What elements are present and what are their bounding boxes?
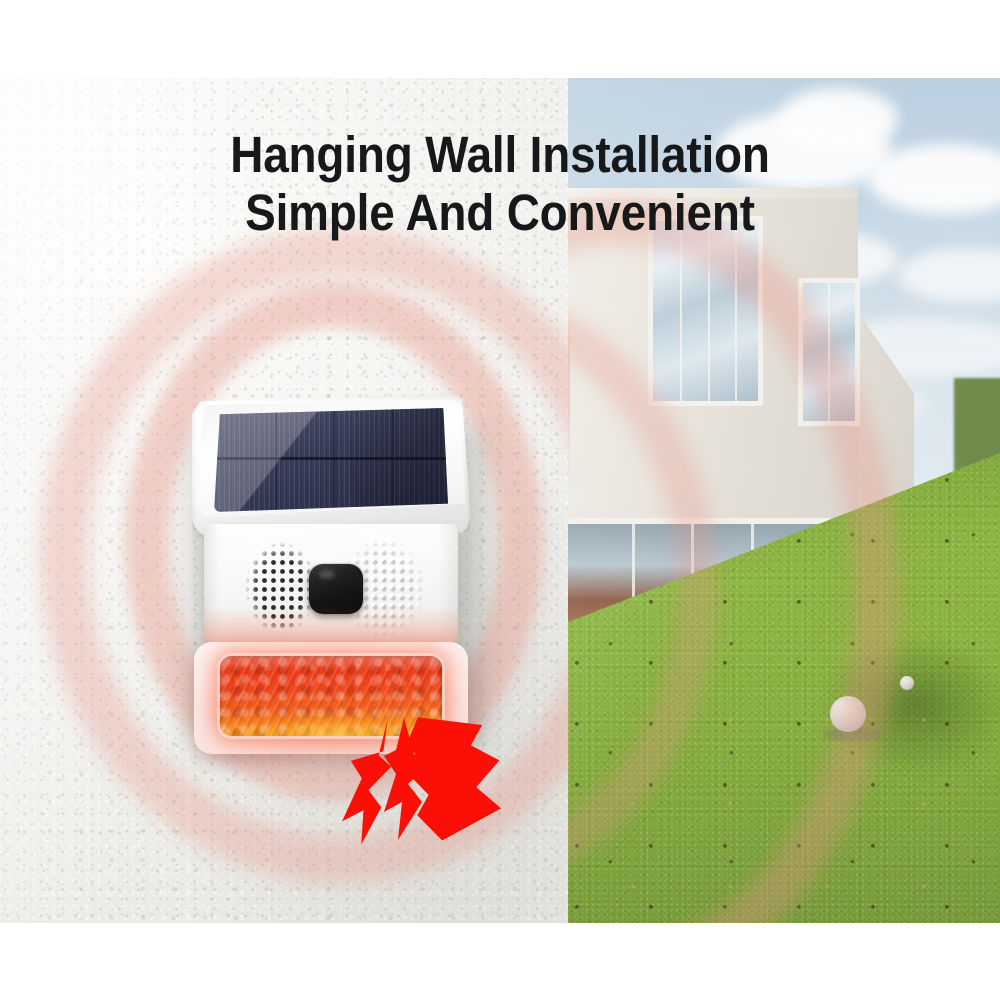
garden-sphere-ornament	[900, 676, 914, 690]
house-exterior-photo	[568, 78, 1000, 923]
sensor-highlight	[319, 570, 335, 579]
solar-panel-housing	[192, 394, 470, 538]
lens-top-rim-highlight	[220, 656, 442, 670]
panel-shadow-gleam	[345, 408, 448, 512]
flashing-light-bolts	[330, 716, 560, 866]
light-bolt-icon	[406, 716, 502, 842]
upper-window-large	[648, 216, 763, 406]
bottom-white-margin	[0, 923, 1000, 1000]
garden-sphere-ornament	[830, 696, 866, 732]
top-white-margin	[0, 0, 1000, 78]
upper-window-small	[798, 278, 860, 426]
product-feature-image: Hanging Wall Installation Simple And Con…	[0, 0, 1000, 1000]
cloud	[778, 88, 898, 150]
solar-panel	[214, 408, 448, 512]
solar-alarm-siren[interactable]	[186, 394, 476, 759]
parapet-top	[568, 188, 858, 198]
light-bolt-icon	[337, 719, 395, 846]
